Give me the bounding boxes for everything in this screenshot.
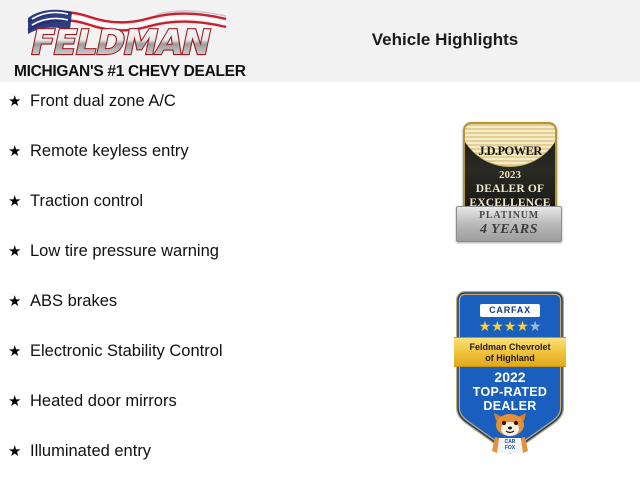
jd-power-ribbon: PLATINUM 4 YEARS: [456, 206, 562, 242]
star-bullet-icon: ★: [8, 294, 30, 309]
carfax-award-year: 2022: [452, 369, 568, 385]
star-bullet-icon: ★: [8, 94, 30, 109]
list-item: ★ Remote keyless entry: [0, 142, 420, 192]
list-item: ★ Low tire pressure warning: [0, 242, 420, 292]
feldman-wordmark: FELDMAN: [14, 22, 240, 62]
star-bullet-icon: ★: [8, 244, 30, 259]
jd-power-ribbon-years: 4 YEARS: [457, 222, 561, 238]
highlight-label: Heated door mirrors: [30, 392, 177, 411]
carfax-star-partial: ★: [529, 318, 542, 334]
carfax-award-line1: TOP-RATED: [452, 385, 568, 399]
star-bullet-icon: ★: [8, 394, 30, 409]
carfax-dealer-name-line1: Feldman Chevrolet: [454, 342, 566, 352]
list-item: ★ Illuminated entry: [0, 442, 420, 492]
svg-text:FELDMAN: FELDMAN: [27, 23, 213, 62]
highlight-label: Traction control: [30, 192, 143, 211]
list-item: ★ Electronic Stability Control: [0, 342, 420, 392]
star-bullet-icon: ★: [8, 344, 30, 359]
list-item: ★ Traction control: [0, 192, 420, 242]
header-divider: [0, 82, 640, 84]
highlight-label: ABS brakes: [30, 292, 117, 311]
highlight-label: Illuminated entry: [30, 442, 151, 461]
carfax-dealer-ribbon: Feldman Chevrolet of Highland: [454, 337, 566, 367]
carfax-award-line2: DEALER: [452, 399, 568, 413]
jd-power-award-line1: DEALER OF: [465, 183, 555, 195]
highlight-label: Low tire pressure warning: [30, 242, 219, 261]
car-fox-shirt-line2: FOX: [497, 445, 523, 451]
list-item: ★ Heated door mirrors: [0, 392, 420, 442]
dealer-tagline: MICHIGAN'S #1 CHEVY DEALER: [14, 63, 240, 81]
car-fox-mascot-icon: CAR FOX: [488, 412, 532, 454]
highlight-label: Front dual zone A/C: [30, 92, 176, 111]
highlight-label: Remote keyless entry: [30, 142, 189, 161]
star-bullet-icon: ★: [8, 194, 30, 209]
highlight-label: Electronic Stability Control: [30, 342, 223, 361]
dealer-logo: FELDMAN MICHIGAN'S #1 CHEVY DEALER: [14, 6, 240, 80]
carfax-stars-filled: ★★★★: [479, 318, 529, 334]
star-bullet-icon: ★: [8, 444, 30, 459]
jd-power-ribbon-tier: PLATINUM: [457, 210, 561, 221]
page-title: Vehicle Highlights: [300, 30, 590, 50]
car-fox-shirt-text: CAR FOX: [497, 437, 523, 453]
jd-power-award-badge: J.D.POWER 2023 DEALER OF EXCELLENCE PLAT…: [456, 122, 560, 240]
list-item: ★ Front dual zone A/C: [0, 92, 420, 142]
carfax-dealer-name-line2: of Highland: [454, 353, 566, 363]
list-item: ★ ABS brakes: [0, 292, 420, 342]
jd-power-wordmark: J.D.POWER: [465, 144, 555, 159]
vehicle-highlights-list: ★ Front dual zone A/C ★ Remote keyless e…: [0, 92, 420, 492]
carfax-star-rating: ★★★★★: [452, 319, 568, 333]
carfax-logo: CARFAX: [480, 304, 540, 317]
jd-power-year: 2023: [465, 169, 555, 181]
carfax-top-rated-dealer-badge: CARFAX ★★★★★ Feldman Chevrolet of Highla…: [452, 290, 568, 455]
star-bullet-icon: ★: [8, 144, 30, 159]
